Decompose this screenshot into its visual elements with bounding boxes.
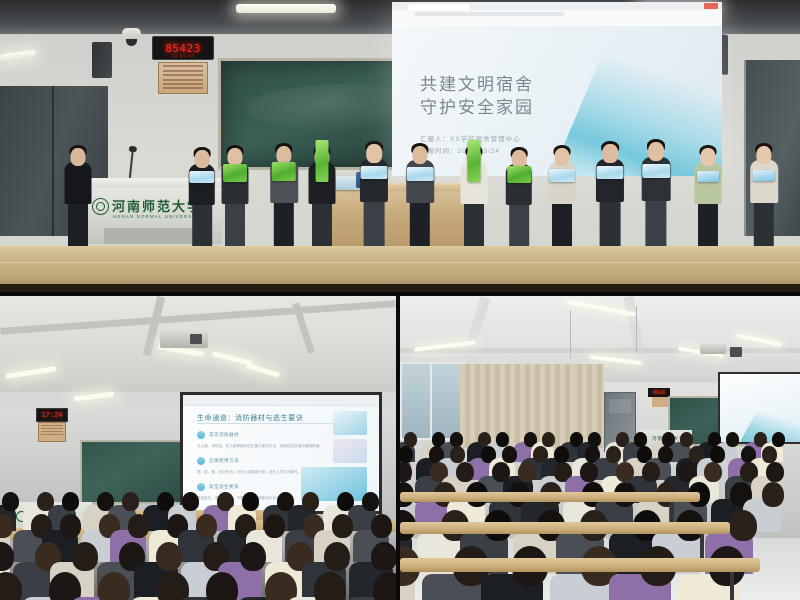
legs <box>192 201 212 246</box>
led-clock-time: 0924 <box>653 390 665 396</box>
legs <box>698 200 718 246</box>
audience-head <box>2 492 19 511</box>
ceiling-light <box>236 4 336 13</box>
notice-board <box>652 397 668 407</box>
head <box>602 144 618 163</box>
head <box>555 148 570 166</box>
legs <box>552 200 572 246</box>
audience-head <box>157 572 189 600</box>
prize-green-box <box>272 162 296 180</box>
ceiling-projector <box>160 331 208 348</box>
wall-speaker <box>92 42 112 78</box>
audience-head <box>580 462 598 482</box>
light-hanger <box>570 310 571 358</box>
bullet-icon <box>197 483 205 491</box>
audience-head <box>502 446 517 463</box>
audience-head <box>302 492 319 511</box>
audience-head <box>62 492 79 511</box>
student-10 <box>588 134 632 246</box>
notice-board <box>38 422 66 442</box>
torso <box>65 162 92 204</box>
student-7 <box>452 138 496 246</box>
slide-title-rule <box>197 423 347 424</box>
photo-collage: 85423 温度 湿度 时间 共建文明宿舍 守护安全家园 汇报人：XX学院宿舍管… <box>0 0 800 600</box>
audience-head <box>371 542 396 571</box>
student-6 <box>398 136 442 246</box>
audience-head <box>60 514 81 538</box>
audience-head <box>404 432 417 447</box>
audience-head <box>642 462 660 482</box>
slide-image <box>333 439 367 463</box>
audience-head <box>762 446 777 463</box>
student-desk <box>400 492 700 502</box>
notice-board <box>158 62 208 94</box>
legs <box>68 200 88 246</box>
audience-head <box>710 446 725 463</box>
stage-shadow <box>0 284 800 292</box>
bullet-heading: 正确使用方法 <box>209 458 239 464</box>
slide-title: 生命通道：消防器材与逃生要诀 <box>197 413 303 423</box>
legs <box>600 198 621 246</box>
audience-head <box>704 462 722 482</box>
audience-head <box>729 510 757 541</box>
audience-head <box>240 542 266 571</box>
audience-head <box>242 492 259 511</box>
legs <box>410 199 430 246</box>
slide-wave-graphic <box>740 408 800 442</box>
torso <box>750 160 778 203</box>
audience-head <box>98 572 130 600</box>
audience-head <box>264 514 285 538</box>
student-8 <box>497 140 541 246</box>
student-desk <box>400 558 760 572</box>
audience-head <box>772 432 785 447</box>
slide-title: 共建文明宿舍 守护安全家园 <box>420 74 534 121</box>
head <box>195 150 210 168</box>
torso <box>695 162 722 204</box>
audience-head <box>456 462 474 482</box>
audience-head <box>726 432 739 447</box>
audience-head <box>196 514 217 538</box>
student-4 <box>300 138 344 246</box>
ceiling-projector <box>700 344 726 354</box>
bullet-body: 灭火器、消防栓、防火毯等器材的位置与使用方法，定期检查并保持通道畅通。 <box>197 443 323 449</box>
prize-blue-box <box>189 171 214 184</box>
head <box>701 148 716 166</box>
audience-head <box>324 542 350 571</box>
student-desk <box>400 522 730 534</box>
audience-head <box>518 462 536 482</box>
prize-green-box <box>223 164 247 182</box>
audience-head <box>314 572 346 600</box>
audience-head <box>634 432 647 447</box>
head <box>366 144 382 163</box>
audience-head <box>680 432 693 447</box>
audience-head <box>72 542 98 571</box>
prize-blue-box <box>596 166 623 180</box>
audience-head <box>762 482 784 507</box>
audience-head <box>265 572 297 600</box>
bullet-heading: 安全逃生要诀 <box>209 484 239 490</box>
audience-head <box>496 432 509 447</box>
legs <box>364 198 385 246</box>
legs <box>225 200 245 246</box>
host-woman-left <box>56 138 100 246</box>
prize-blue-card <box>753 170 775 181</box>
audience-head <box>450 446 465 463</box>
audience-head <box>371 514 392 538</box>
audience-head <box>49 572 81 600</box>
desk-leg <box>730 572 734 600</box>
audience-head <box>542 432 555 447</box>
bullet-heading: 常见消防器材 <box>209 432 239 438</box>
prize-blue-box <box>360 166 387 180</box>
student-12 <box>686 138 730 246</box>
slide-title-line-2: 守护安全家园 <box>420 97 534 120</box>
audience-head <box>554 446 569 463</box>
audience-head <box>658 446 673 463</box>
bullet-icon <box>197 457 205 465</box>
legs <box>509 201 529 246</box>
slide-title-line-1: 共建文明宿舍 <box>420 74 534 97</box>
desk-leg <box>670 502 674 524</box>
student-9 <box>540 138 584 246</box>
prize-green-tall <box>316 140 329 182</box>
award-ceremony-photo: 85423 温度 湿度 时间 共建文明宿舍 守护安全家园 汇报人：XX学院宿舍管… <box>0 0 800 292</box>
prize-green-tall <box>468 140 481 182</box>
stage-edge <box>0 262 800 263</box>
window <box>400 362 466 440</box>
legs <box>645 197 666 246</box>
lecture-screen-photo: 17:24 生命通道：消防器材与逃生要诀 常见消防器材 灭火器、消防栓、防火毯等… <box>0 296 396 600</box>
student-2 <box>213 138 257 246</box>
podium-base <box>104 228 192 244</box>
led-clock-time: 17:24 <box>41 411 62 419</box>
head <box>648 142 664 161</box>
audience-head <box>766 462 784 482</box>
audience-head <box>122 492 139 511</box>
close-icon[interactable] <box>704 3 718 9</box>
security-camera <box>122 28 141 41</box>
student-5 <box>352 134 396 246</box>
legs <box>464 200 484 246</box>
audience-head <box>400 446 413 463</box>
led-clock: 85423 温度 湿度 时间 <box>152 36 214 60</box>
prize-blue-box <box>407 167 434 180</box>
prize-blue-box <box>549 169 575 182</box>
head <box>756 146 771 164</box>
head <box>71 148 86 166</box>
audience-head <box>606 446 621 463</box>
browser-tab-bar <box>183 395 379 406</box>
audience-head <box>206 572 238 600</box>
audience-head <box>156 542 182 571</box>
slide-image <box>333 411 367 435</box>
student-11 <box>634 132 678 246</box>
prize-blue-box <box>642 164 670 178</box>
audience-head <box>182 492 199 511</box>
browser-address-bar[interactable] <box>392 10 722 18</box>
legs <box>754 199 774 246</box>
audience-head <box>450 432 463 447</box>
student-13 <box>742 136 786 246</box>
light-hanger <box>636 306 637 352</box>
audience-head <box>588 432 601 447</box>
prize-blue-card <box>697 171 719 182</box>
led-clock-time: 85423 <box>165 42 201 55</box>
led-clock: 0924 <box>648 388 670 397</box>
led-clock: 17:24 <box>36 408 68 422</box>
audience-head <box>362 492 379 511</box>
audience-head <box>332 514 353 538</box>
audience-head <box>128 514 149 538</box>
legs <box>312 200 332 246</box>
prize-green-box <box>507 166 531 184</box>
legs <box>274 199 294 246</box>
bullet-icon <box>197 431 205 439</box>
led-clock-label: 温度 湿度 时间 <box>153 54 213 58</box>
browser-tab[interactable] <box>408 4 470 10</box>
head <box>412 146 427 164</box>
audience-photo: 0924 河南师范大学 <box>400 296 800 600</box>
